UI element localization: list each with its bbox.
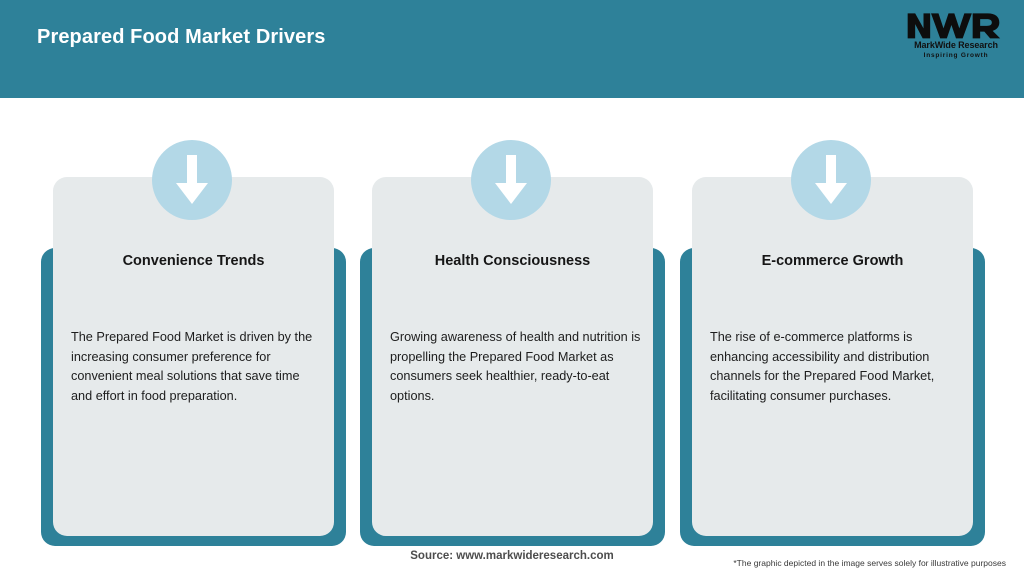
card-body-2: Growing awareness of health and nutritio… [390,328,643,406]
page-header: Prepared Food Market Drivers MarkWide Re… [0,0,1024,98]
page-title: Prepared Food Market Drivers [37,26,325,49]
down-arrow-icon-1 [152,140,232,220]
logo-tagline: Inspiring Growth [924,51,989,60]
mwr-logomark-icon [906,10,1006,40]
card-title-1: Convenience Trends [53,253,334,269]
card-title-2: Health Consciousness [372,253,653,269]
driver-card-3: E-commerce Growth The rise of e-commerce… [680,98,1000,536]
card-title-3: E-commerce Growth [692,253,973,269]
card-body-1: The Prepared Food Market is driven by th… [71,328,324,406]
card-surface-2: Health Consciousness Growing awareness o… [372,177,653,536]
down-arrow-glyph [813,155,849,205]
drivers-card-row: Convenience Trends The Prepared Food Mar… [0,98,1024,536]
driver-card-2: Health Consciousness Growing awareness o… [360,98,680,536]
down-arrow-glyph [174,155,210,205]
card-surface-3: E-commerce Growth The rise of e-commerce… [692,177,973,536]
down-arrow-glyph [493,155,529,205]
card-surface-1: Convenience Trends The Prepared Food Mar… [53,177,334,536]
card-body-3: The rise of e-commerce platforms is enha… [710,328,963,406]
down-arrow-icon-2 [471,140,551,220]
disclaimer-label: *The graphic depicted in the image serve… [733,558,1006,568]
down-arrow-icon-3 [791,140,871,220]
brand-logo: MarkWide Research Inspiring Growth [904,10,1008,64]
driver-card-1: Convenience Trends The Prepared Food Mar… [41,98,361,536]
logo-company-name: MarkWide Research [914,40,998,51]
